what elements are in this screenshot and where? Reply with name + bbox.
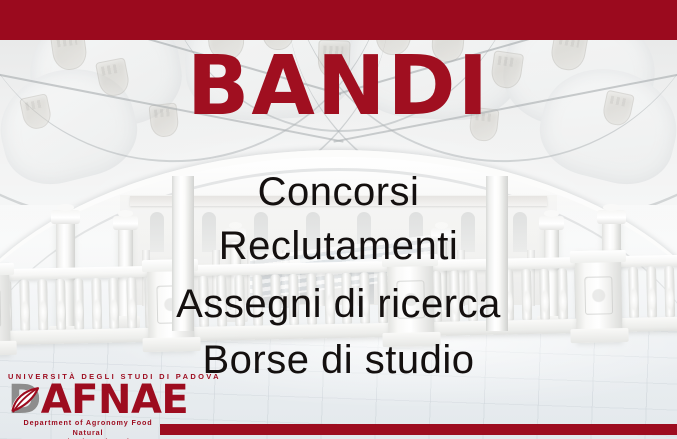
logo-letters-afnae: AFNAE [41, 377, 189, 423]
bando-type-reclutamenti: Reclutamenti [0, 226, 677, 266]
bando-type-assegni-di-ricerca: Assegni di ricerca [0, 284, 677, 324]
dafnae-logo: UNIVERSITÀ DEGLI STUDI DI PADOVA DAFNAE … [8, 372, 176, 439]
logo-acronym: DAFNAE [8, 380, 188, 420]
logo-wordmark: DAFNAE [8, 382, 176, 418]
logo-letter-d: D [8, 377, 41, 423]
poster: BANDI Concorsi Reclutamenti Assegni di r… [0, 0, 677, 439]
top-red-banner [0, 0, 677, 40]
page-title: BANDI [0, 46, 677, 128]
bottom-red-bar [160, 424, 677, 435]
bando-type-concorsi: Concorsi [0, 172, 677, 212]
